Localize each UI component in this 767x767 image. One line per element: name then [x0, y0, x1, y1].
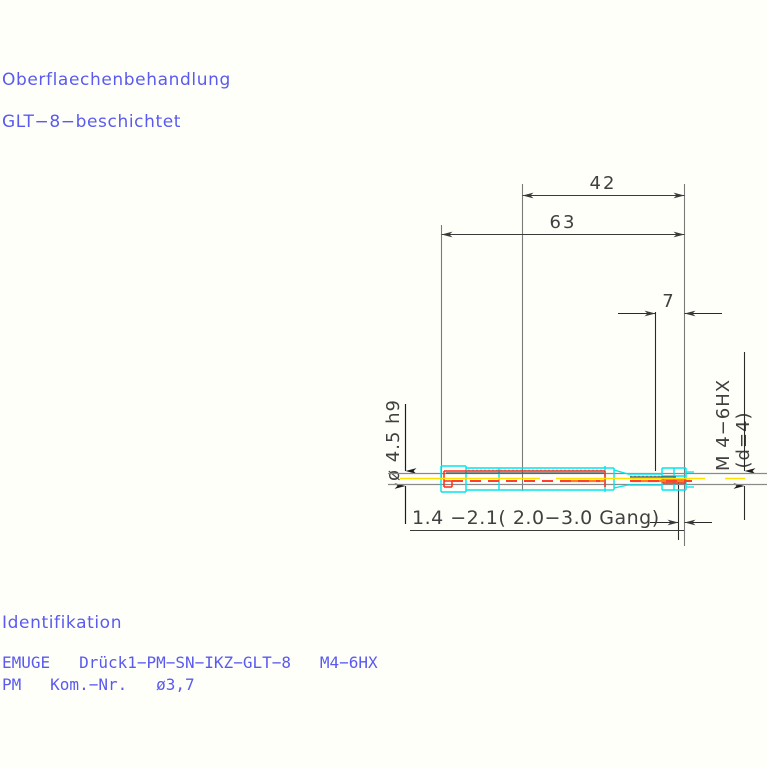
- dimension-label-7: 7: [662, 291, 673, 312]
- part-geometry: [400, 466, 745, 492]
- drawing-canvas: Oberflaechenbehandlung GLT−8−beschichtet…: [0, 0, 767, 767]
- note-pitch-label: 1.4 −2.1( 2.0−3.0 Gang): [412, 507, 660, 529]
- extension-lines-dark: [656, 312, 679, 540]
- dimension-label-63: 63: [550, 212, 577, 233]
- callout-thread-spec: M 4−6HX: [713, 379, 734, 471]
- technical-drawing-svg: 42 63 7 ø 4.5 h9 M 4−6HX (d=4): [0, 0, 767, 767]
- dimension-7: 7: [618, 291, 722, 314]
- note-pitch: 1.4 −2.1( 2.0−3.0 Gang): [410, 507, 684, 531]
- outline-taper-bottom: [614, 485, 628, 488]
- callout-thread: M 4−6HX (d=4): [713, 352, 754, 520]
- dimension-label-42: 42: [590, 173, 617, 194]
- extension-lines: [442, 184, 685, 546]
- dimension-63: 63: [442, 212, 685, 235]
- dimension-42: 42: [523, 173, 685, 196]
- dimension-label-diameter: ø 4.5 h9: [383, 399, 404, 481]
- callout-thread-depth: (d=4): [733, 411, 754, 468]
- dimension-diameter: ø 4.5 h9: [383, 399, 406, 524]
